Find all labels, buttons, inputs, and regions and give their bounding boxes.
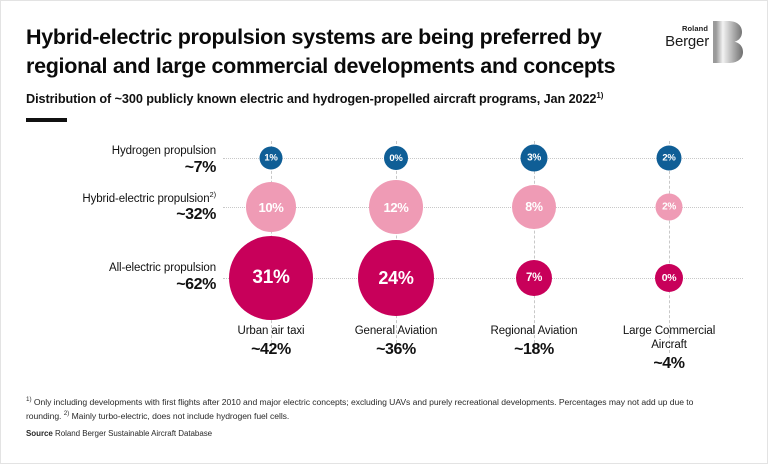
- footnote-marker-2: 2): [64, 410, 70, 417]
- subtitle-text: Distribution of ~300 publicly known elec…: [26, 92, 596, 106]
- row-label-all-electric-propulsion: All-electric propulsion ~62%: [26, 262, 216, 294]
- bubble-value: 2%: [662, 153, 675, 164]
- bubble-all-electric-general-aviation[interactable]: 24%: [358, 240, 434, 316]
- source-line: Source Roland Berger Sustainable Aircraf…: [26, 429, 212, 438]
- bubble-value: 10%: [258, 200, 283, 215]
- bubble-hydrogen-large-commercial-aircraft[interactable]: 2%: [657, 146, 682, 171]
- bubble-value: 0%: [662, 272, 677, 284]
- row-label-hybrid-electric-propulsion: Hybrid-electric propulsion2) ~32%: [26, 191, 216, 225]
- source-text: Roland Berger Sustainable Aircraft Datab…: [55, 429, 212, 438]
- bubble-value: 2%: [662, 202, 676, 213]
- logo-roland-text: Roland: [665, 25, 709, 33]
- bubble-hybrid-general-aviation[interactable]: 12%: [369, 180, 423, 234]
- row-label-hydrogen-name: Hydrogen propulsion: [26, 145, 216, 159]
- bubble-hybrid-large-commercial-aircraft[interactable]: 2%: [656, 194, 683, 221]
- column-label-name: Large Commercial Aircraft: [604, 325, 734, 353]
- row-label-all-electric-text: All-electric propulsion: [109, 262, 216, 274]
- column-label-regional-aviation: Regional Aviation ~18%: [484, 325, 584, 359]
- column-label-large-commercial-aircraft: Large Commercial Aircraft ~4%: [604, 325, 734, 373]
- row-label-all-electric-name: All-electric propulsion: [26, 262, 216, 276]
- row-label-hydrogen-value: ~7%: [26, 159, 216, 178]
- row-label-column: Hydrogen propulsion ~7% Hybrid-electric …: [1, 129, 216, 369]
- bubble-hydrogen-urban-air-taxi[interactable]: 1%: [260, 147, 283, 170]
- infographic-page: Hybrid-electric propulsion systems are b…: [0, 0, 768, 464]
- bubble-hybrid-regional-aviation[interactable]: 8%: [512, 185, 556, 229]
- row-label-hydrogen-text: Hydrogen propulsion: [112, 145, 216, 157]
- bubble-hydrogen-regional-aviation[interactable]: 3%: [521, 145, 548, 172]
- row-label-hybrid-text: Hybrid-electric propulsion: [82, 193, 209, 205]
- column-label-value: ~36%: [321, 340, 471, 359]
- column-label-name: Regional Aviation: [484, 325, 584, 339]
- footnote-block: 1) Only including developments with firs…: [26, 395, 726, 423]
- subtitle-footnote-marker: 1): [596, 91, 603, 100]
- page-subtitle: Distribution of ~300 publicly known elec…: [26, 91, 666, 106]
- bubble-chart: Hydrogen propulsion ~7% Hybrid-electric …: [1, 129, 768, 369]
- column-label-general-aviation: General Aviation ~36%: [321, 325, 471, 359]
- footnote-marker-1: 1): [26, 396, 32, 403]
- bubble-all-electric-regional-aviation[interactable]: 7%: [516, 260, 552, 296]
- logo-wordmark: Roland Berger: [665, 25, 709, 49]
- logo-b-mark-icon: [713, 20, 743, 64]
- bubble-value: 31%: [252, 267, 289, 289]
- bubble-all-electric-large-commercial-aircraft[interactable]: 0%: [655, 264, 683, 292]
- bubble-value: 8%: [525, 200, 542, 214]
- bubble-all-electric-urban-air-taxi[interactable]: 31%: [229, 236, 313, 320]
- bubble-value: 1%: [264, 153, 277, 164]
- bubble-value: 12%: [383, 200, 408, 215]
- bubble-hybrid-urban-air-taxi[interactable]: 10%: [246, 182, 296, 232]
- column-label-value: ~4%: [604, 354, 734, 373]
- column-label-value: ~18%: [484, 340, 584, 359]
- row-label-hybrid-name: Hybrid-electric propulsion2): [26, 191, 216, 206]
- vline-regional-aviation: [534, 141, 535, 353]
- logo-berger-text: Berger: [665, 34, 709, 49]
- page-title: Hybrid-electric propulsion systems are b…: [26, 23, 656, 80]
- footnote-text-2: Mainly turbo-electric, does not include …: [72, 411, 290, 421]
- title-underline-rule: [26, 118, 67, 122]
- column-label-name: General Aviation: [321, 325, 471, 339]
- roland-berger-logo: Roland Berger: [653, 19, 745, 65]
- row-label-all-electric-value: ~62%: [26, 276, 216, 295]
- row-label-hydrogen-propulsion: Hydrogen propulsion ~7%: [26, 145, 216, 177]
- row-label-hybrid-value: ~32%: [26, 206, 216, 225]
- bubble-value: 0%: [389, 153, 402, 164]
- vline-large-commercial-aircraft: [669, 141, 670, 353]
- bubble-value: 7%: [526, 272, 542, 284]
- source-label: Source: [26, 429, 53, 438]
- row-label-hybrid-footnote-marker: 2): [210, 190, 216, 199]
- bubble-hydrogen-general-aviation[interactable]: 0%: [384, 146, 408, 170]
- bubble-value: 24%: [378, 268, 413, 289]
- bubble-value: 3%: [527, 153, 541, 164]
